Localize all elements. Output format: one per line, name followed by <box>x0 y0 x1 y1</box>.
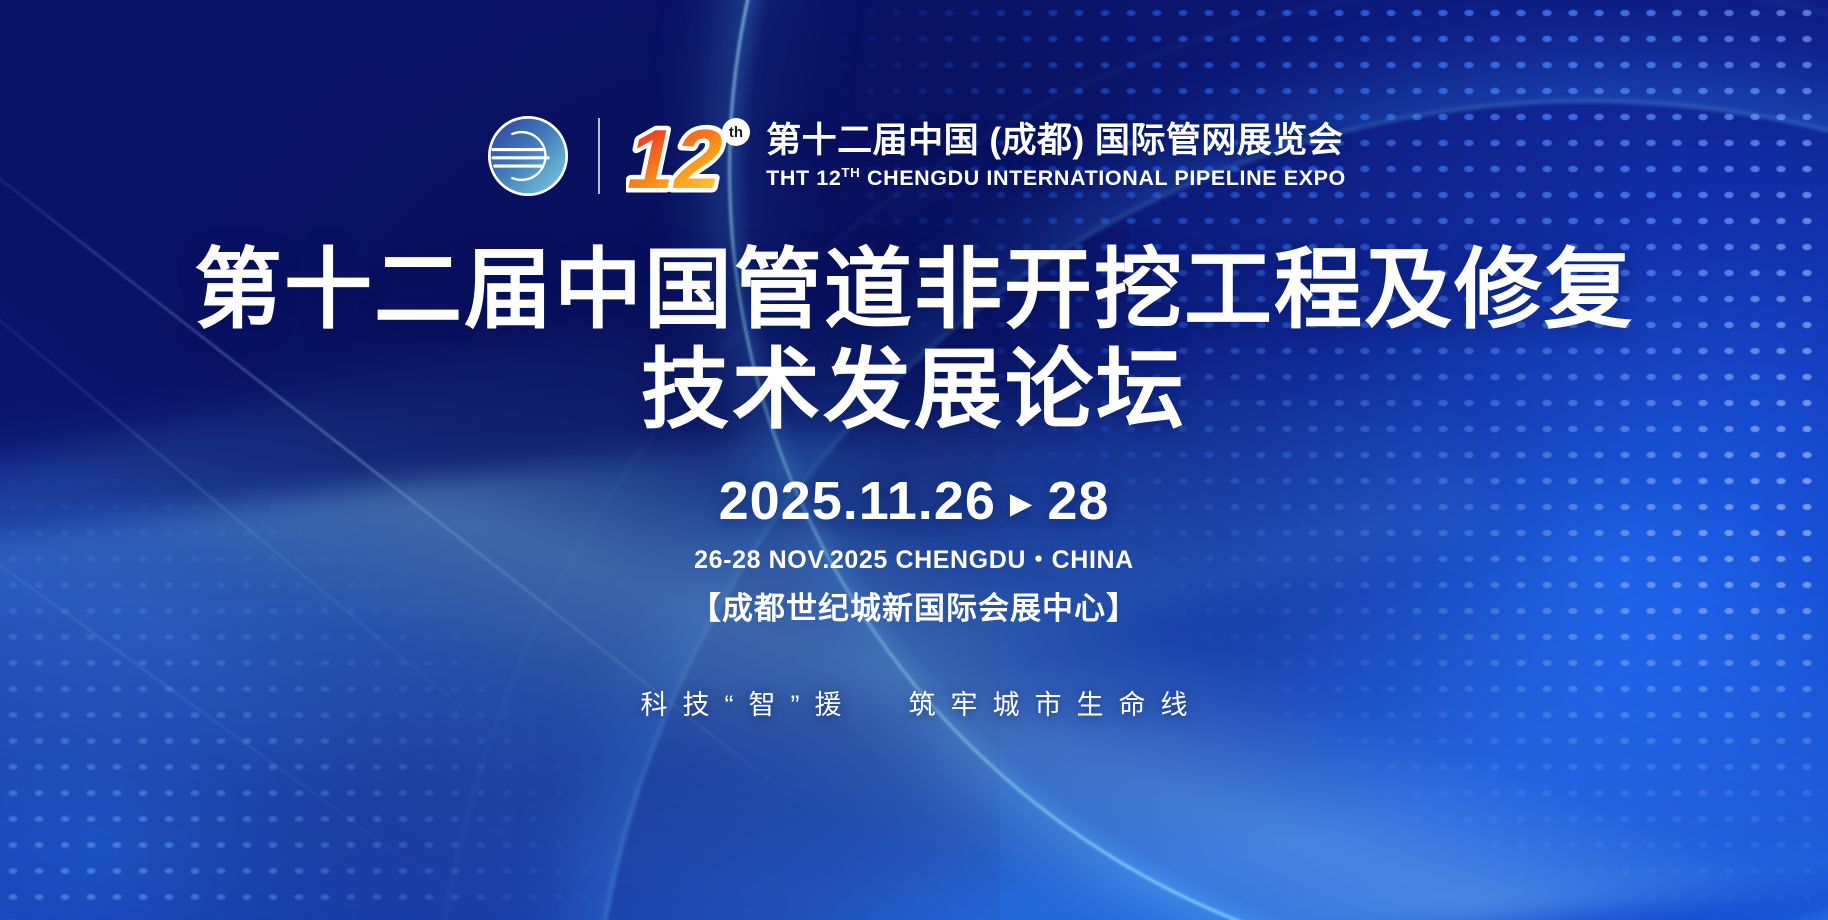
forum-title-line1: 第十二届中国管道非开挖工程及修复 <box>0 240 1828 340</box>
event-date-end: 28 <box>1047 471 1109 531</box>
edition-12th-numeral-icon: 12 12 th <box>626 108 754 204</box>
expo-name-en-rest: CHENGDU INTERNATIONAL PIPELINE EXPO <box>860 166 1346 190</box>
forum-title-line2: 技术发展论坛 <box>0 340 1828 440</box>
event-date-english: 26-28 NOV.2025 CHENGDU・CHINA <box>0 540 1828 576</box>
forum-title: 第十二届中国管道非开挖工程及修复 技术发展论坛 <box>0 240 1828 441</box>
event-venue: 【成都世纪城新国际会展中心】 <box>0 583 1828 628</box>
svg-text:th: th <box>729 124 743 141</box>
event-slogan-part2: 筑牢城市生命线 <box>908 690 1202 720</box>
lockup-divider <box>598 118 600 194</box>
expo-name-block: 第十二届中国 (成都) 国际管网展览会 THT 12TH CHENGDU INT… <box>766 120 1346 191</box>
expo-name-en: THT 12TH CHENGDU INTERNATIONAL PIPELINE … <box>766 165 1346 192</box>
event-date-start: 2025.11.26 <box>719 471 996 531</box>
svg-text:12: 12 <box>626 112 733 204</box>
expo-banner: 12 12 th 第十二届中国 (成都) 国际管网展览会 THT 12TH CH… <box>0 0 1828 920</box>
expo-name-en-prefix: THT 12 <box>766 166 841 190</box>
event-slogan-part1: 科技“智”援 <box>641 690 857 720</box>
expo-name-en-ordinal: TH <box>841 165 860 180</box>
date-range-arrow-icon: ▶ <box>1010 486 1033 521</box>
brand-lockup: 12 12 th 第十二届中国 (成都) 国际管网展览会 THT 12TH CH… <box>0 108 1828 204</box>
event-date: 2025.11.26▶28 <box>0 470 1828 532</box>
event-slogan: 科技“智”援筑牢城市生命线 <box>0 683 1828 722</box>
pipeline-circle-emblem-icon <box>482 110 574 202</box>
banner-content: 12 12 th 第十二届中国 (成都) 国际管网展览会 THT 12TH CH… <box>0 0 1828 920</box>
expo-name-cn: 第十二届中国 (成都) 国际管网展览会 <box>766 120 1346 161</box>
